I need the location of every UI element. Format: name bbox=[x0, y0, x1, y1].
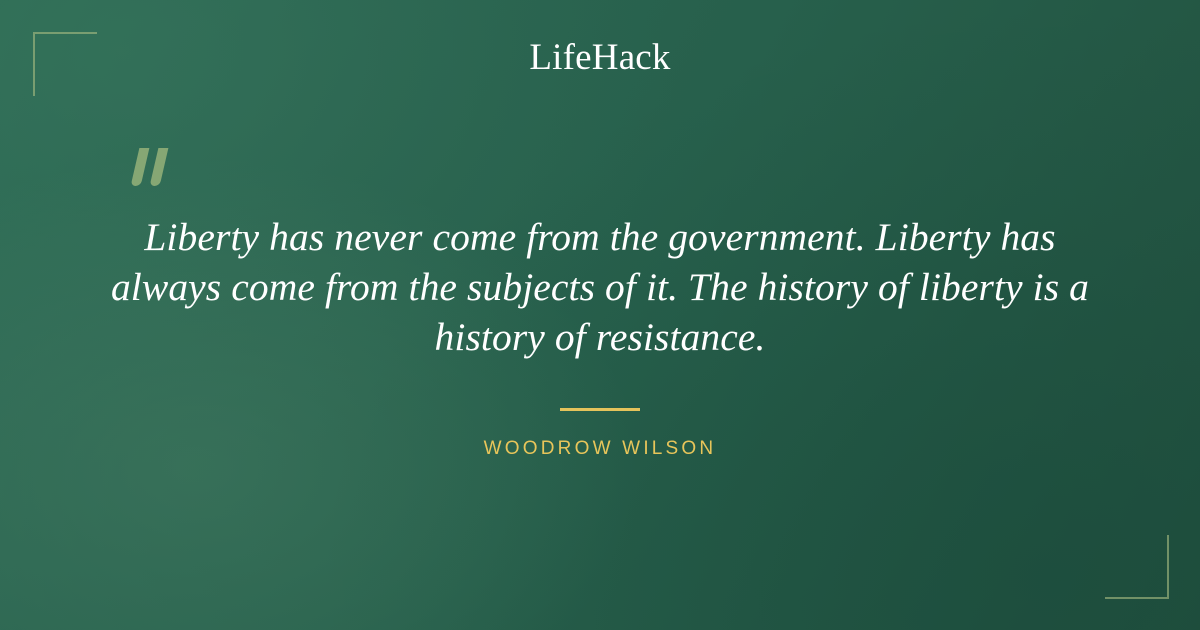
quote-mark-stroke-left bbox=[131, 148, 150, 186]
divider-rule bbox=[560, 408, 640, 411]
quote-text: Liberty has never come from the governme… bbox=[96, 212, 1104, 362]
quote-mark-stroke-right bbox=[150, 148, 169, 186]
corner-bracket-bottom-right-icon bbox=[1105, 535, 1169, 599]
brand-logo: LifeHack bbox=[0, 39, 1200, 76]
quote-mark-icon bbox=[128, 126, 198, 196]
quote-author: WOODROW WILSON bbox=[0, 438, 1200, 460]
quote-card: LifeHack Liberty has never come from the… bbox=[0, 0, 1200, 630]
